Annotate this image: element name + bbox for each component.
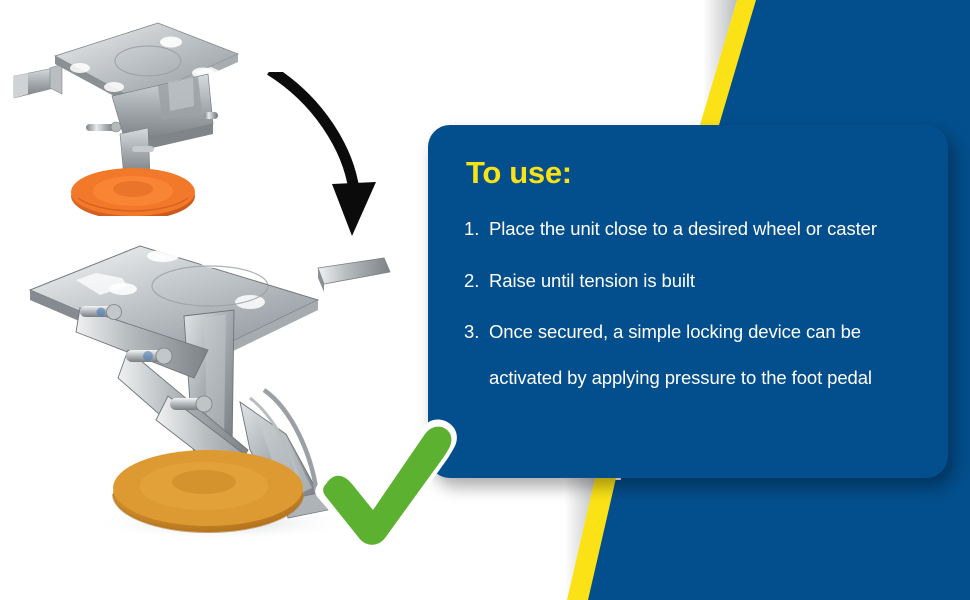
foot-pedal-arm-top xyxy=(14,64,62,98)
caster-floor-lock-retracted-image xyxy=(8,16,246,216)
green-check-mark-icon xyxy=(306,418,466,548)
step-number: 3. xyxy=(464,320,489,344)
orange-wheel-top xyxy=(71,168,195,216)
step-text: Raise until tension is built xyxy=(489,269,938,293)
step-text: Once secured, a simple locking device ca… xyxy=(489,320,938,389)
step-number: 1. xyxy=(464,217,489,241)
list-item: 3. Once secured, a simple locking device… xyxy=(464,320,938,389)
step-text-line2: activated by applying pressure to the fo… xyxy=(489,366,938,390)
poster-canvas: To use: 1. Place the unit close to a des… xyxy=(0,0,970,600)
instruction-card: To use: 1. Place the unit close to a des… xyxy=(428,125,948,478)
step-text: Place the unit close to a desired wheel … xyxy=(489,217,938,241)
step-text-line1: Once secured, a simple locking device ca… xyxy=(489,321,861,342)
card-heading: To use: xyxy=(466,157,572,188)
orange-wheel-bottom xyxy=(113,450,303,532)
step-number: 2. xyxy=(464,269,489,293)
steps-list: 1. Place the unit close to a desired whe… xyxy=(464,217,938,418)
list-item: 1. Place the unit close to a desired whe… xyxy=(464,217,938,241)
list-item: 2. Raise until tension is built xyxy=(464,269,938,293)
curved-down-arrow-icon xyxy=(244,72,394,242)
